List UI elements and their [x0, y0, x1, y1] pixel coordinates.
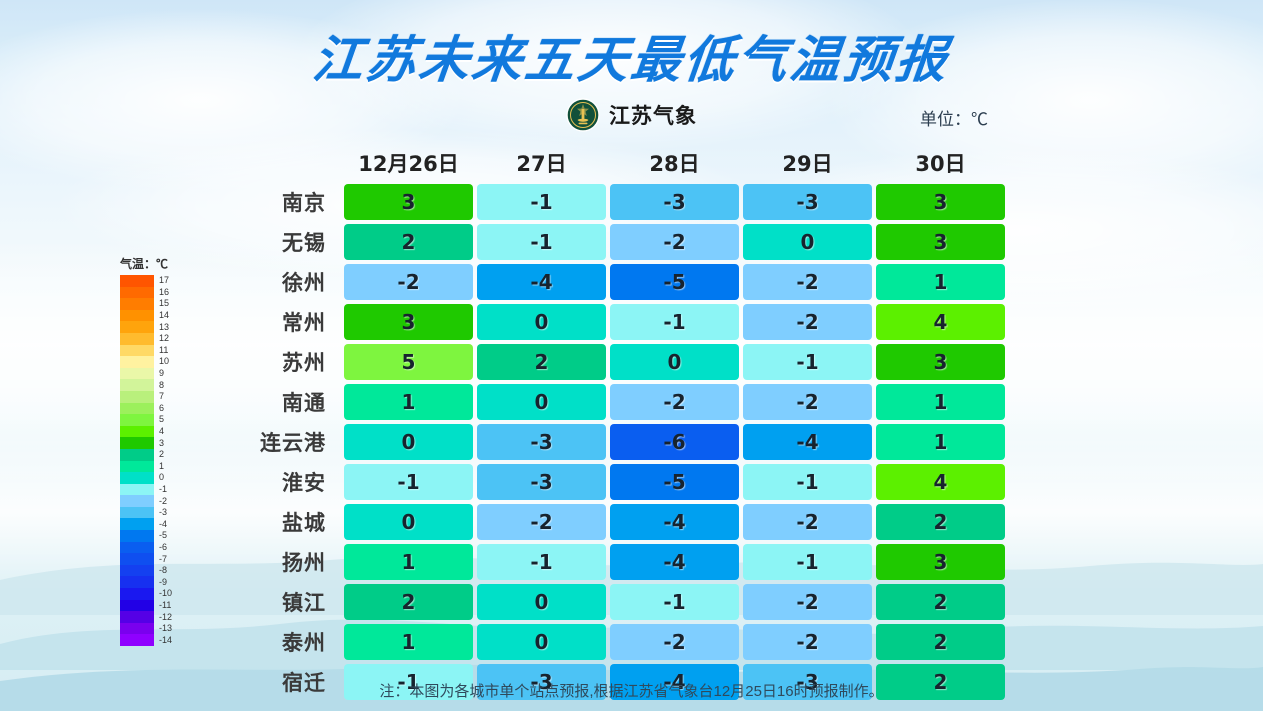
- legend-entry: 13: [120, 321, 192, 333]
- temperature-cell-wrapper: 1: [874, 424, 1007, 460]
- legend-color-scale: 17161514131211109876543210-1-2-3-4-5-6-7…: [120, 275, 192, 646]
- legend-swatch: [120, 461, 154, 473]
- temperature-cell-wrapper: 2: [342, 584, 475, 620]
- legend-swatch: [120, 530, 154, 542]
- legend-swatch: [120, 518, 154, 530]
- legend-label: 6: [159, 404, 164, 413]
- legend-entry: -6: [120, 542, 192, 554]
- temperature-cell-wrapper: 0: [342, 424, 475, 460]
- legend-label: -9: [159, 578, 167, 587]
- legend-label: -14: [159, 636, 172, 645]
- temperature-cell: -1: [477, 224, 606, 260]
- legend-swatch: [120, 321, 154, 333]
- legend-label: 0: [159, 473, 164, 482]
- legend-swatch: [120, 495, 154, 507]
- legend-label: -13: [159, 624, 172, 633]
- legend-label: 12: [159, 334, 169, 343]
- temperature-cell: -3: [477, 424, 606, 460]
- temperature-cell: -1: [743, 344, 872, 380]
- legend-label: -5: [159, 531, 167, 540]
- legend-label: -4: [159, 520, 167, 529]
- temperature-cell: -2: [743, 584, 872, 620]
- temperature-cell: 3: [876, 544, 1005, 580]
- legend-entry: -11: [120, 600, 192, 612]
- temperature-cell-wrapper: 0: [741, 224, 874, 260]
- temperature-cell: 1: [344, 544, 473, 580]
- temperature-cell-wrapper: 3: [874, 544, 1007, 580]
- temperature-cell: 0: [344, 424, 473, 460]
- temperature-cell: 1: [876, 424, 1005, 460]
- legend-label: 1: [159, 462, 164, 471]
- temperature-cell-wrapper: -1: [741, 464, 874, 500]
- table-header-row: 12月26日27日28日29日30日: [230, 143, 1007, 183]
- temperature-cell: -4: [610, 504, 739, 540]
- legend-swatch: [120, 565, 154, 577]
- temperature-cell-wrapper: 3: [342, 304, 475, 340]
- temperature-cell-wrapper: -4: [608, 544, 741, 580]
- legend-label: -8: [159, 566, 167, 575]
- temperature-cell: 0: [477, 624, 606, 660]
- legend-title: 气温：℃: [120, 255, 192, 272]
- legend-swatch: [120, 368, 154, 380]
- temperature-cell: -3: [477, 464, 606, 500]
- temperature-cell-wrapper: -2: [608, 624, 741, 660]
- temperature-cell-wrapper: -4: [475, 264, 608, 300]
- city-label: 常州: [230, 307, 342, 337]
- legend-label: 5: [159, 415, 164, 424]
- legend-entry: 7: [120, 391, 192, 403]
- legend-entry: -7: [120, 553, 192, 565]
- table-row: 盐城0-2-4-22: [230, 503, 1007, 541]
- temperature-cell-wrapper: 1: [874, 384, 1007, 420]
- temperature-cell-wrapper: -1: [475, 544, 608, 580]
- temperature-cell-wrapper: 4: [874, 304, 1007, 340]
- legend-swatch: [120, 298, 154, 310]
- temperature-cell-wrapper: 0: [608, 344, 741, 380]
- legend-label: -10: [159, 589, 172, 598]
- legend-label: 17: [159, 276, 169, 285]
- temperature-cell: 2: [876, 584, 1005, 620]
- temperature-cell-wrapper: 1: [342, 544, 475, 580]
- column-header-day: 28日: [608, 148, 741, 178]
- temperature-cell: -5: [610, 264, 739, 300]
- legend-swatch: [120, 472, 154, 484]
- legend-entry: 12: [120, 333, 192, 345]
- temperature-cell-wrapper: -1: [741, 344, 874, 380]
- temperature-cell-wrapper: 0: [342, 504, 475, 540]
- temperature-cell: 2: [477, 344, 606, 380]
- legend-swatch: [120, 275, 154, 287]
- legend-swatch: [120, 553, 154, 565]
- temperature-cell: -3: [610, 184, 739, 220]
- temperature-cell: 0: [610, 344, 739, 380]
- temperature-cell: 2: [876, 624, 1005, 660]
- legend-entry: 8: [120, 379, 192, 391]
- temperature-cell-wrapper: 2: [874, 504, 1007, 540]
- temperature-cell: 4: [876, 304, 1005, 340]
- legend-label: -1: [159, 485, 167, 494]
- legend-entry: 17: [120, 275, 192, 287]
- temperature-cell-wrapper: 0: [475, 304, 608, 340]
- legend-entry: 4: [120, 426, 192, 438]
- temperature-cell: -2: [743, 624, 872, 660]
- temperature-cell-wrapper: -1: [475, 184, 608, 220]
- legend-swatch: [120, 379, 154, 391]
- temperature-cell: 3: [344, 304, 473, 340]
- legend-swatch: [120, 588, 154, 600]
- legend-swatch: [120, 600, 154, 612]
- temperature-cell-wrapper: -5: [608, 464, 741, 500]
- temperature-cell-wrapper: -2: [741, 624, 874, 660]
- temperature-cell: -2: [344, 264, 473, 300]
- temperature-cell: -1: [344, 464, 473, 500]
- temperature-cell: -2: [610, 224, 739, 260]
- column-header-day: 29日: [741, 148, 874, 178]
- legend-entry: 1: [120, 461, 192, 473]
- temperature-cell: -4: [610, 544, 739, 580]
- temperature-cell-wrapper: 3: [874, 224, 1007, 260]
- legend-entry: 9: [120, 368, 192, 380]
- temperature-cell: 0: [743, 224, 872, 260]
- legend-swatch: [120, 333, 154, 345]
- temperature-cell: -6: [610, 424, 739, 460]
- temperature-cell-wrapper: -2: [608, 384, 741, 420]
- temperature-cell-wrapper: 2: [342, 224, 475, 260]
- legend-entry: -4: [120, 518, 192, 530]
- legend-entry: -2: [120, 495, 192, 507]
- legend-label: -12: [159, 613, 172, 622]
- forecast-table: 12月26日27日28日29日30日 南京3-1-3-33无锡2-1-203徐州…: [230, 143, 1007, 703]
- table-row: 苏州520-13: [230, 343, 1007, 381]
- temperature-cell: 1: [876, 384, 1005, 420]
- city-label: 徐州: [230, 267, 342, 297]
- column-header-day: 12月26日: [342, 148, 475, 178]
- temperature-cell: -2: [743, 264, 872, 300]
- temperature-cell-wrapper: 1: [874, 264, 1007, 300]
- temperature-cell: -4: [743, 424, 872, 460]
- legend-entry: 3: [120, 437, 192, 449]
- temperature-cell: -4: [477, 264, 606, 300]
- temperature-cell-wrapper: -2: [342, 264, 475, 300]
- legend-label: 8: [159, 381, 164, 390]
- legend-swatch: [120, 576, 154, 588]
- temperature-cell: 0: [344, 504, 473, 540]
- legend-entry: -13: [120, 623, 192, 635]
- temperature-cell-wrapper: 1: [342, 624, 475, 660]
- temperature-cell-wrapper: -1: [608, 584, 741, 620]
- temperature-cell-wrapper: -1: [342, 464, 475, 500]
- legend-swatch: [120, 634, 154, 646]
- column-header-day: 27日: [475, 148, 608, 178]
- legend-entry: 10: [120, 356, 192, 368]
- temperature-cell: 0: [477, 384, 606, 420]
- temperature-cell: -5: [610, 464, 739, 500]
- legend-swatch: [120, 623, 154, 635]
- legend-swatch: [120, 611, 154, 623]
- city-label: 扬州: [230, 547, 342, 577]
- temperature-cell-wrapper: 1: [342, 384, 475, 420]
- temperature-cell: -2: [610, 624, 739, 660]
- table-row: 镇江20-1-22: [230, 583, 1007, 621]
- temperature-cell-wrapper: 2: [874, 584, 1007, 620]
- legend-entry: -9: [120, 576, 192, 588]
- temperature-cell: 0: [477, 584, 606, 620]
- legend-label: -11: [159, 601, 171, 610]
- table-row: 淮安-1-3-5-14: [230, 463, 1007, 501]
- legend-swatch: [120, 449, 154, 461]
- temperature-cell-wrapper: 0: [475, 624, 608, 660]
- city-label: 镇江: [230, 587, 342, 617]
- legend-label: 16: [159, 288, 169, 297]
- footer-note: 注：本图为各城市单个站点预报,根据江苏省气象台12月25日16时预报制作。: [0, 680, 1263, 701]
- legend-entry: -5: [120, 530, 192, 542]
- temperature-cell-wrapper: -1: [608, 304, 741, 340]
- temperature-cell: -3: [743, 184, 872, 220]
- temperature-cell-wrapper: -2: [741, 264, 874, 300]
- temperature-cell-wrapper: -6: [608, 424, 741, 460]
- temperature-cell: 2: [344, 224, 473, 260]
- temperature-cell: 1: [876, 264, 1005, 300]
- temperature-cell-wrapper: 4: [874, 464, 1007, 500]
- temperature-cell-wrapper: 2: [874, 624, 1007, 660]
- legend-swatch: [120, 542, 154, 554]
- legend-label: 13: [159, 323, 169, 332]
- legend-entry: 5: [120, 414, 192, 426]
- temperature-cell: 1: [344, 384, 473, 420]
- table-row: 无锡2-1-203: [230, 223, 1007, 261]
- legend-label: 10: [159, 357, 169, 366]
- table-body: 南京3-1-3-33无锡2-1-203徐州-2-4-5-21常州30-1-24苏…: [230, 183, 1007, 701]
- temperature-cell-wrapper: -3: [741, 184, 874, 220]
- legend-label: -3: [159, 508, 167, 517]
- temperature-cell: -1: [743, 544, 872, 580]
- legend-label: 7: [159, 392, 164, 401]
- city-label: 连云港: [230, 427, 342, 457]
- temperature-cell-wrapper: 2: [475, 344, 608, 380]
- temperature-cell-wrapper: -2: [475, 504, 608, 540]
- temperature-cell-wrapper: 0: [475, 584, 608, 620]
- temperature-cell-wrapper: -2: [608, 224, 741, 260]
- legend-entry: -8: [120, 565, 192, 577]
- city-label: 南通: [230, 387, 342, 417]
- table-row: 泰州10-2-22: [230, 623, 1007, 661]
- city-label: 苏州: [230, 347, 342, 377]
- legend-swatch: [120, 391, 154, 403]
- temperature-cell: 2: [876, 504, 1005, 540]
- temperature-cell-wrapper: -3: [475, 424, 608, 460]
- temperature-cell: -2: [743, 304, 872, 340]
- temperature-cell: 2: [344, 584, 473, 620]
- temperature-cell: -2: [743, 504, 872, 540]
- legend-entry: 11: [120, 345, 192, 357]
- temperature-cell: 0: [477, 304, 606, 340]
- temperature-cell-wrapper: -1: [475, 224, 608, 260]
- legend-label: 11: [159, 346, 168, 355]
- brand-name: 江苏气象: [609, 100, 697, 130]
- table-row: 连云港0-3-6-41: [230, 423, 1007, 461]
- legend-swatch: [120, 484, 154, 496]
- legend-label: -6: [159, 543, 167, 552]
- legend-swatch: [120, 345, 154, 357]
- city-label: 泰州: [230, 627, 342, 657]
- temperature-legend: 气温：℃ 17161514131211109876543210-1-2-3-4-…: [120, 255, 192, 646]
- legend-entry: -12: [120, 611, 192, 623]
- temperature-cell-wrapper: -3: [608, 184, 741, 220]
- header: 江苏未来五天最低气温预报 江苏气象 单位：℃: [0, 0, 1263, 150]
- temperature-cell-wrapper: 0: [475, 384, 608, 420]
- temperature-cell: 1: [344, 624, 473, 660]
- brand-block: 江苏气象: [0, 98, 1263, 132]
- legend-swatch: [120, 507, 154, 519]
- column-header-day: 30日: [874, 148, 1007, 178]
- temperature-cell: -1: [743, 464, 872, 500]
- city-label: 淮安: [230, 467, 342, 497]
- temperature-cell: -2: [610, 384, 739, 420]
- table-row: 扬州1-1-4-13: [230, 543, 1007, 581]
- legend-label: 3: [159, 439, 164, 448]
- temperature-cell: -1: [610, 584, 739, 620]
- temperature-cell-wrapper: 3: [342, 184, 475, 220]
- temperature-cell: -1: [477, 184, 606, 220]
- legend-entry: 6: [120, 403, 192, 415]
- unit-label: 单位：℃: [920, 105, 988, 130]
- temperature-cell: 3: [876, 184, 1005, 220]
- temperature-cell-wrapper: -2: [741, 584, 874, 620]
- temperature-cell-wrapper: -4: [608, 504, 741, 540]
- temperature-cell-wrapper: 3: [874, 344, 1007, 380]
- legend-entry: 2: [120, 449, 192, 461]
- page-title: 江苏未来五天最低气温预报: [0, 20, 1263, 92]
- legend-swatch: [120, 403, 154, 415]
- city-label: 南京: [230, 187, 342, 217]
- temperature-cell: 3: [876, 344, 1005, 380]
- legend-swatch: [120, 414, 154, 426]
- legend-entry: 14: [120, 310, 192, 322]
- temperature-cell: -1: [610, 304, 739, 340]
- temperature-cell-wrapper: 3: [874, 184, 1007, 220]
- temperature-cell-wrapper: -3: [475, 464, 608, 500]
- city-label: 无锡: [230, 227, 342, 257]
- temperature-cell: 3: [876, 224, 1005, 260]
- legend-entry: -14: [120, 634, 192, 646]
- table-row: 常州30-1-24: [230, 303, 1007, 341]
- legend-entry: -3: [120, 507, 192, 519]
- legend-entry: -10: [120, 588, 192, 600]
- temperature-cell-wrapper: -4: [741, 424, 874, 460]
- table-row: 徐州-2-4-5-21: [230, 263, 1007, 301]
- legend-label: 2: [159, 450, 164, 459]
- legend-entry: -1: [120, 484, 192, 496]
- temperature-cell: 3: [344, 184, 473, 220]
- temperature-cell-wrapper: -2: [741, 304, 874, 340]
- temperature-cell-wrapper: -2: [741, 384, 874, 420]
- legend-swatch: [120, 426, 154, 438]
- legend-label: 9: [159, 369, 164, 378]
- jiangsu-meteorology-emblem-icon: [566, 98, 600, 132]
- legend-label: 4: [159, 427, 164, 436]
- legend-swatch: [120, 356, 154, 368]
- legend-entry: 0: [120, 472, 192, 484]
- temperature-cell: -2: [743, 384, 872, 420]
- temperature-cell-wrapper: 5: [342, 344, 475, 380]
- legend-label: 14: [159, 311, 169, 320]
- legend-swatch: [120, 437, 154, 449]
- legend-swatch: [120, 310, 154, 322]
- legend-label: -2: [159, 497, 167, 506]
- table-row: 南通10-2-21: [230, 383, 1007, 421]
- temperature-cell-wrapper: -2: [741, 504, 874, 540]
- table-row: 南京3-1-3-33: [230, 183, 1007, 221]
- legend-entry: 16: [120, 287, 192, 299]
- legend-label: -7: [159, 555, 167, 564]
- temperature-cell: 4: [876, 464, 1005, 500]
- city-label: 盐城: [230, 507, 342, 537]
- legend-entry: 15: [120, 298, 192, 310]
- temperature-cell: -2: [477, 504, 606, 540]
- legend-swatch: [120, 287, 154, 299]
- temperature-cell: 5: [344, 344, 473, 380]
- temperature-cell-wrapper: -1: [741, 544, 874, 580]
- temperature-cell-wrapper: -5: [608, 264, 741, 300]
- temperature-cell: -1: [477, 544, 606, 580]
- legend-label: 15: [159, 299, 169, 308]
